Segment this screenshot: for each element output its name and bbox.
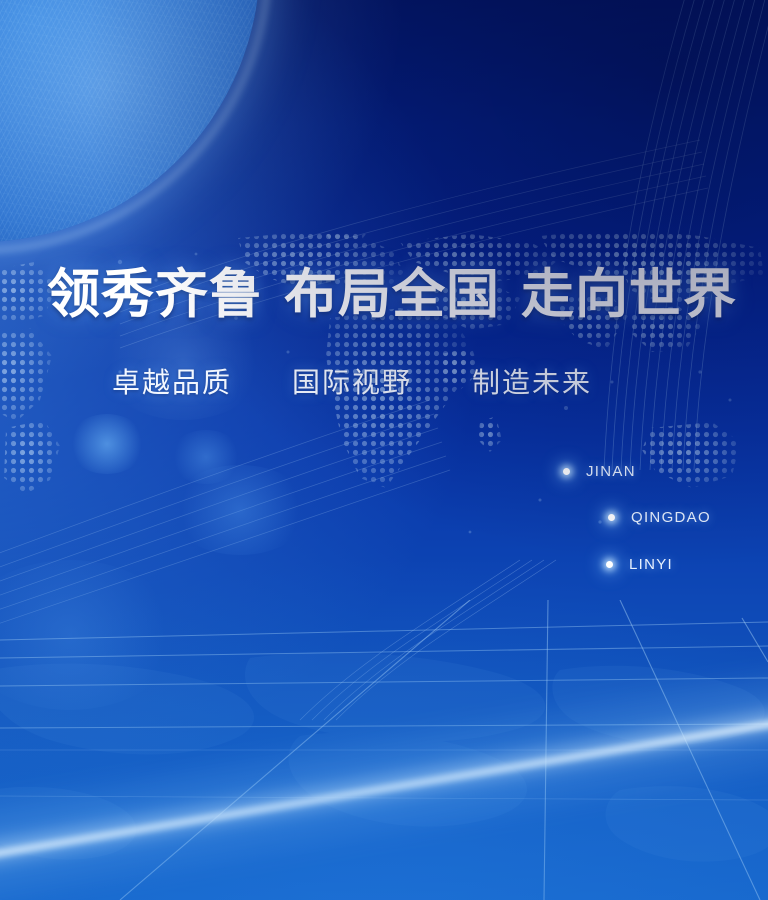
hero-banner: 领秀齐鲁布局全国走向世界 卓越品质国际视野制造未来 JINAN QINGDAO … [0,0,768,900]
background-vignette [0,0,768,900]
